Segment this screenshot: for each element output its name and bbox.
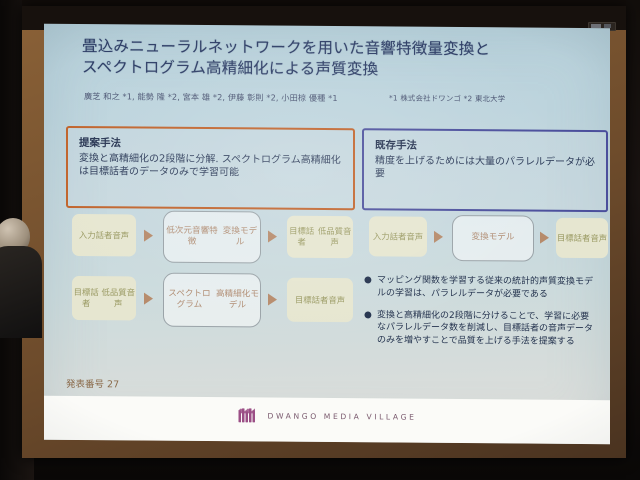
- dwango-crown-logo-icon: [238, 407, 259, 423]
- bullet-dot-icon: ●: [364, 274, 377, 300]
- projected-slide: 畳込みニューラルネットワークを用いた音響特徴量変換と スペクトログラム高精細化に…: [44, 24, 610, 444]
- bullet-text: マッピング関数を学習する従来の統計的声質変換モデルの学習は、パラレルデータが必要…: [377, 274, 596, 301]
- flow-node-target-speaker-low-quality-audio-2: 目標話者低品質音声: [72, 276, 136, 321]
- affiliation-list: *1 株式会社ドワンゴ *2 東北大学: [389, 92, 604, 105]
- existing-method-body: 精度を上げるためには大量のパラレルデータが必要: [375, 154, 597, 182]
- person-shoulders: [0, 246, 42, 338]
- presentation-number: 発表番号 27: [66, 376, 119, 390]
- list-item: ● 変換と高精細化の2段階に分けることで、学習に必要なパラレルデータ数を削減し、…: [364, 309, 596, 349]
- audience-person-silhouette: [0, 218, 42, 338]
- title-line-2: スペクトログラム高精細化による声質変換: [82, 57, 582, 82]
- room-background: 畳込みニューラルネットワークを用いた音響特徴量変換と スペクトログラム高精細化に…: [0, 0, 640, 480]
- flow-node-lowdim-feature-conversion-model: 低次元音響特徴変換モデル: [163, 211, 261, 264]
- flow-node-target-speaker-audio: 目標話者音声: [287, 278, 353, 323]
- bullet-list: ● マッピング関数を学習する従来の統計的声質変換モデルの学習は、パラレルデータが…: [364, 274, 596, 358]
- flow-arrow-icon: [268, 294, 277, 306]
- flow-arrow-icon: [540, 232, 549, 244]
- proposed-method-body: 変換と高精細化の2段階に分解. スペクトログラム高精細化は目標話者のデータのみで…: [79, 152, 344, 180]
- flow-arrow-icon: [268, 231, 277, 243]
- list-item: ● マッピング関数を学習する従来の統計的声質変換モデルの学習は、パラレルデータが…: [364, 274, 596, 301]
- flow-arrow-icon: [144, 230, 153, 242]
- existing-flow-node-target-speaker-audio: 目標話者音声: [556, 218, 608, 258]
- flow-arrow-icon: [144, 293, 153, 305]
- author-list: 廣芝 和之 *1, 能勢 隆 *2, 宮本 雄 *2, 伊藤 彰則 *2, 小田…: [84, 90, 384, 104]
- flow-node-input-speaker-audio: 入力話者音声: [72, 214, 136, 257]
- bullet-text: 変換と高精細化の2段階に分けることで、学習に必要なパラレルデータ数を削減し、目標…: [377, 309, 596, 349]
- proposed-method-box: 提案手法 変換と高精細化の2段階に分解. スペクトログラム高精細化は目標話者のデ…: [66, 126, 355, 210]
- existing-method-box: 既存手法 精度を上げるためには大量のパラレルデータが必要: [362, 128, 608, 212]
- page-title: 畳込みニューラルネットワークを用いた音響特徴量変換と スペクトログラム高精細化に…: [82, 36, 582, 83]
- flow-node-target-speaker-low-quality-audio: 目標話者低品質音声: [287, 216, 353, 259]
- flow-arrow-icon: [434, 231, 443, 243]
- existing-flow-node-conversion-model: 変換モデル: [452, 215, 534, 262]
- slide-content: 畳込みニューラルネットワークを用いた音響特徴量変換と スペクトログラム高精細化に…: [44, 24, 610, 444]
- proposed-method-heading: 提案手法: [79, 135, 344, 152]
- flow-node-spectrogram-superresolution-model: スペクトログラム高精細化モデル: [163, 273, 261, 328]
- existing-method-heading: 既存手法: [375, 137, 597, 154]
- bullet-dot-icon: ●: [364, 309, 377, 347]
- logo-wordmark: DWANGO MEDIA VILLAGE: [268, 411, 417, 421]
- existing-flow-node-input-speaker-audio: 入力話者音声: [369, 216, 427, 256]
